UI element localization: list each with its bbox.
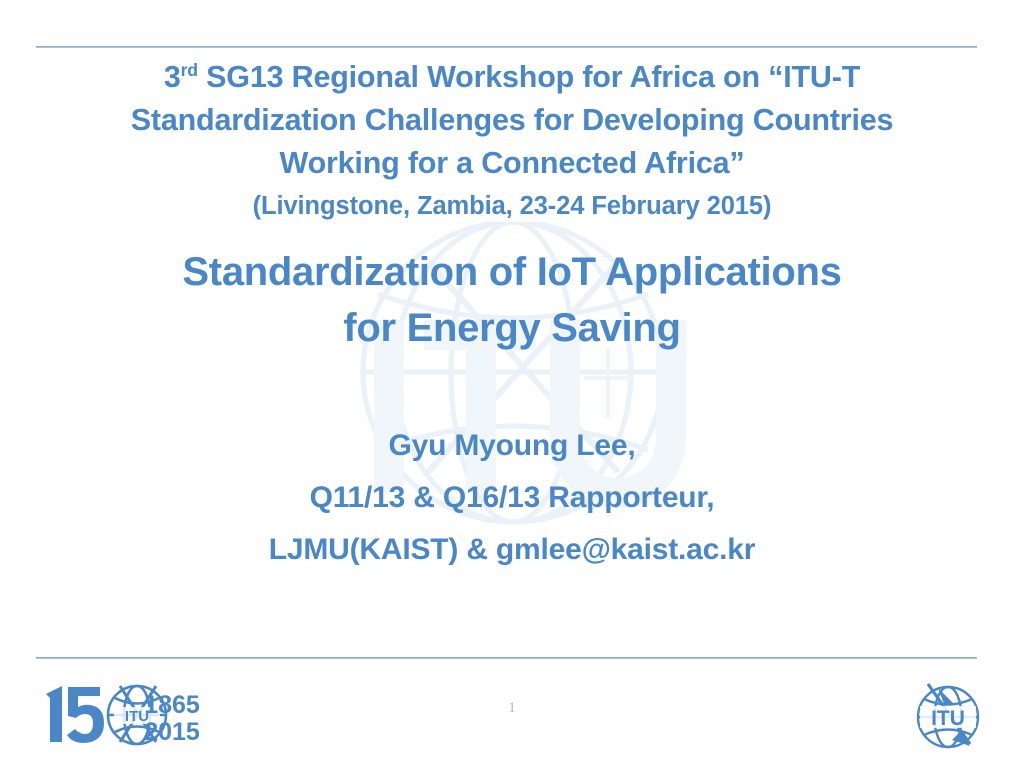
event-title-line3: Working for a Connected Africa” (280, 146, 745, 180)
author-name: Gyu Myoung Lee, (388, 429, 635, 462)
presentation-title: Standardization of IoT Applicationsfor E… (0, 244, 1024, 356)
author-affiliation-email: LJMU(KAIST) & gmlee@kaist.ac.kr (269, 533, 756, 566)
author-role: Q11/13 & Q16/13 Rapporteur, (310, 481, 715, 514)
event-title: 3rd SG13 Regional Workshop for Africa on… (0, 56, 1024, 185)
event-place-and-date: (Livingstone, Zambia, 23-24 February 201… (0, 186, 1024, 226)
anniversary-year-to: 2015 (144, 718, 200, 746)
author-block: Gyu Myoung Lee,Q11/13 & Q16/13 Rapporteu… (0, 420, 1024, 576)
event-title-line2: Standardization Challenges for Developin… (131, 103, 894, 137)
slide-canvas: 3rd SG13 Regional Workshop for Africa on… (0, 0, 1024, 768)
footer-divider (36, 657, 977, 659)
event-ordinal: 3 (164, 60, 181, 94)
event-title-line1-rest: SG13 Regional Workshop for Africa on “IT… (198, 60, 860, 94)
anniversary-micro-text: 1865 (70, 732, 81, 738)
presentation-title-line1: Standardization of IoT Applications (182, 250, 841, 294)
presentation-title-line2: for Energy Saving (343, 306, 680, 350)
slide-content: 3rd SG13 Regional Workshop for Africa on… (0, 56, 1024, 576)
header-divider (36, 46, 977, 48)
slide-number: 1 (0, 700, 1024, 717)
event-ordinal-suffix: rd (181, 60, 198, 80)
itu-logo: ITU (908, 678, 988, 756)
